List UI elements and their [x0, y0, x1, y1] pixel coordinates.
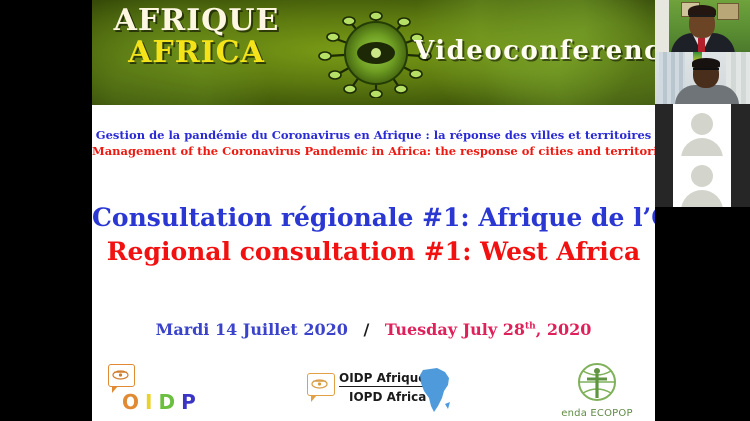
enda-circle-figure-icon: [577, 362, 617, 402]
participant-4-video-off: [655, 156, 750, 207]
logo-enda-ecopop: enda ECOPOP: [547, 362, 647, 420]
avatar-head-icon: [691, 165, 713, 187]
participant-1-tie: [698, 38, 705, 52]
participant-1-glasses: [689, 15, 715, 23]
background-door: [655, 0, 669, 52]
slide-logo-row: OIDP OIDP Afrique IOPD Africa: [92, 362, 655, 421]
africa-map-icon: [415, 366, 457, 414]
videoconference-screen: AFRIQUE AFRICA: [0, 0, 750, 421]
avatar-placeholder: [673, 156, 731, 207]
oidp-letter-d: D: [158, 390, 181, 414]
avatar-body-icon: [681, 138, 723, 156]
bubble-face-icon: [112, 369, 129, 381]
oidp-afrique-line2: IOPD Africa: [339, 390, 426, 404]
slide-date-line: Mardi 14 Juillet 2020 / Tuesday July 28t…: [92, 320, 655, 339]
participant-1-video: [655, 0, 750, 52]
date-english-suffix: , 2020: [536, 320, 592, 339]
avatar-body-icon: [681, 190, 723, 207]
oidp-wordmark: OIDP: [122, 390, 202, 414]
oidp-letter-p: P: [181, 390, 202, 414]
date-english: Tuesday July 28th, 2020: [385, 320, 591, 339]
subtitle-french: Gestion de la pandémie du Coronavirus en…: [92, 128, 655, 144]
avatar-head-icon: [691, 113, 713, 135]
oidp-afrique-line1: OIDP Afrique: [339, 371, 426, 387]
slide-subtitle: Gestion de la pandémie du Coronavirus en…: [92, 128, 655, 159]
date-separator: /: [363, 320, 369, 339]
avatar-placeholder: [673, 104, 731, 156]
wall-picture-frame: [717, 3, 739, 20]
date-english-ordinal: th: [525, 322, 536, 332]
slide-banner: AFRIQUE AFRICA: [92, 0, 655, 105]
logo-oidp-afrique: OIDP Afrique IOPD Africa: [307, 366, 467, 416]
banner-brand-line1: AFRIQUE: [104, 6, 289, 36]
participant-3-video-off: [655, 104, 750, 156]
participant-2-video: [655, 52, 750, 104]
left-letterbox-gutter: [0, 0, 92, 421]
participant-tile-1[interactable]: [655, 0, 750, 52]
participant-2-glasses: [693, 68, 719, 76]
heading-english: Regional consultation #1: West Africa: [92, 236, 655, 267]
banner-mode-label: Videoconference: [414, 36, 649, 66]
participant-tile-4[interactable]: [655, 156, 750, 207]
participant-2-hair: [692, 58, 720, 68]
oidp-letter-o: O: [122, 390, 145, 414]
participant-video-strip[interactable]: [655, 0, 750, 421]
participant-tile-3[interactable]: [655, 104, 750, 156]
shared-screen-slide[interactable]: AFRIQUE AFRICA: [92, 0, 655, 421]
banner-brand-line2: AFRICA: [104, 38, 289, 68]
enda-ecopop-label: enda ECOPOP: [547, 408, 647, 419]
oidp-afrique-wordmark: OIDP Afrique IOPD Africa: [339, 369, 426, 404]
date-english-prefix: Tuesday July 28: [385, 320, 525, 339]
date-french: Mardi 14 Juillet 2020: [156, 320, 348, 339]
logo-oidp: OIDP: [100, 364, 230, 420]
oidp-letter-i: I: [145, 390, 158, 414]
speech-bubble-icon: [307, 373, 335, 396]
bubble-face-icon: [311, 378, 328, 390]
slide-heading: Consultation régionale #1: Afrique de l’…: [92, 202, 655, 268]
participant-tile-2[interactable]: [655, 52, 750, 104]
banner-brand: AFRIQUE AFRICA: [104, 6, 289, 68]
subtitle-english: Management of the Coronavirus Pandemic i…: [92, 144, 655, 160]
speech-bubble-icon: [108, 364, 135, 387]
heading-french: Consultation régionale #1: Afrique de l’…: [92, 202, 655, 233]
